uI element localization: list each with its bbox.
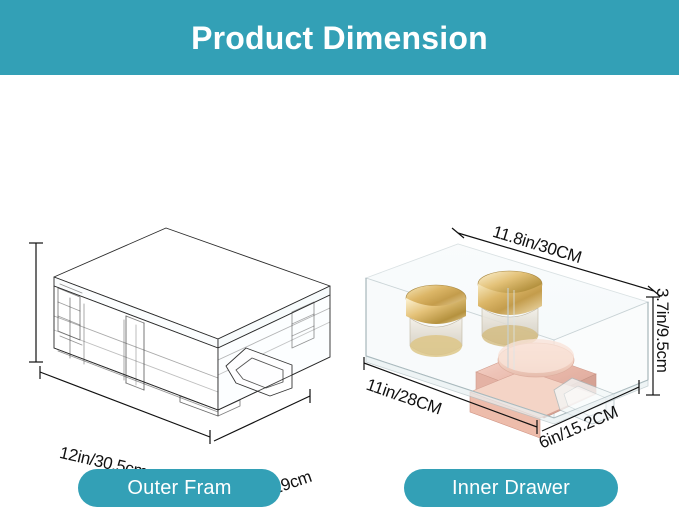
outer-frame-button-label: Outer Fram [127, 477, 231, 500]
page-title: Product Dimension [191, 22, 488, 54]
outer-frame-height-label: 4.4in/11.2cm [0, 233, 2, 325]
inner-drawer-button[interactable]: Inner Drawer [404, 469, 618, 507]
product-panel-outer-frame: 4.4in/11.2cm 12in/30.5cm 7.5in/19cm [0, 75, 352, 513]
outer-frame-illustration [40, 220, 340, 420]
header-bar: Product Dimension [0, 0, 679, 75]
outer-frame-button[interactable]: Outer Fram [78, 469, 281, 507]
inner-drawer-button-label: Inner Drawer [452, 477, 570, 500]
product-dimension-stage: 4.4in/11.2cm 12in/30.5cm 7.5in/19cm [0, 75, 679, 513]
inner-drawer-height-label: 3.7in/9.5cm [652, 288, 672, 373]
product-panel-inner-drawer: 11.8in/30CM 3.7in/9.5cm 11in/28CM 6in/15… [352, 75, 679, 513]
